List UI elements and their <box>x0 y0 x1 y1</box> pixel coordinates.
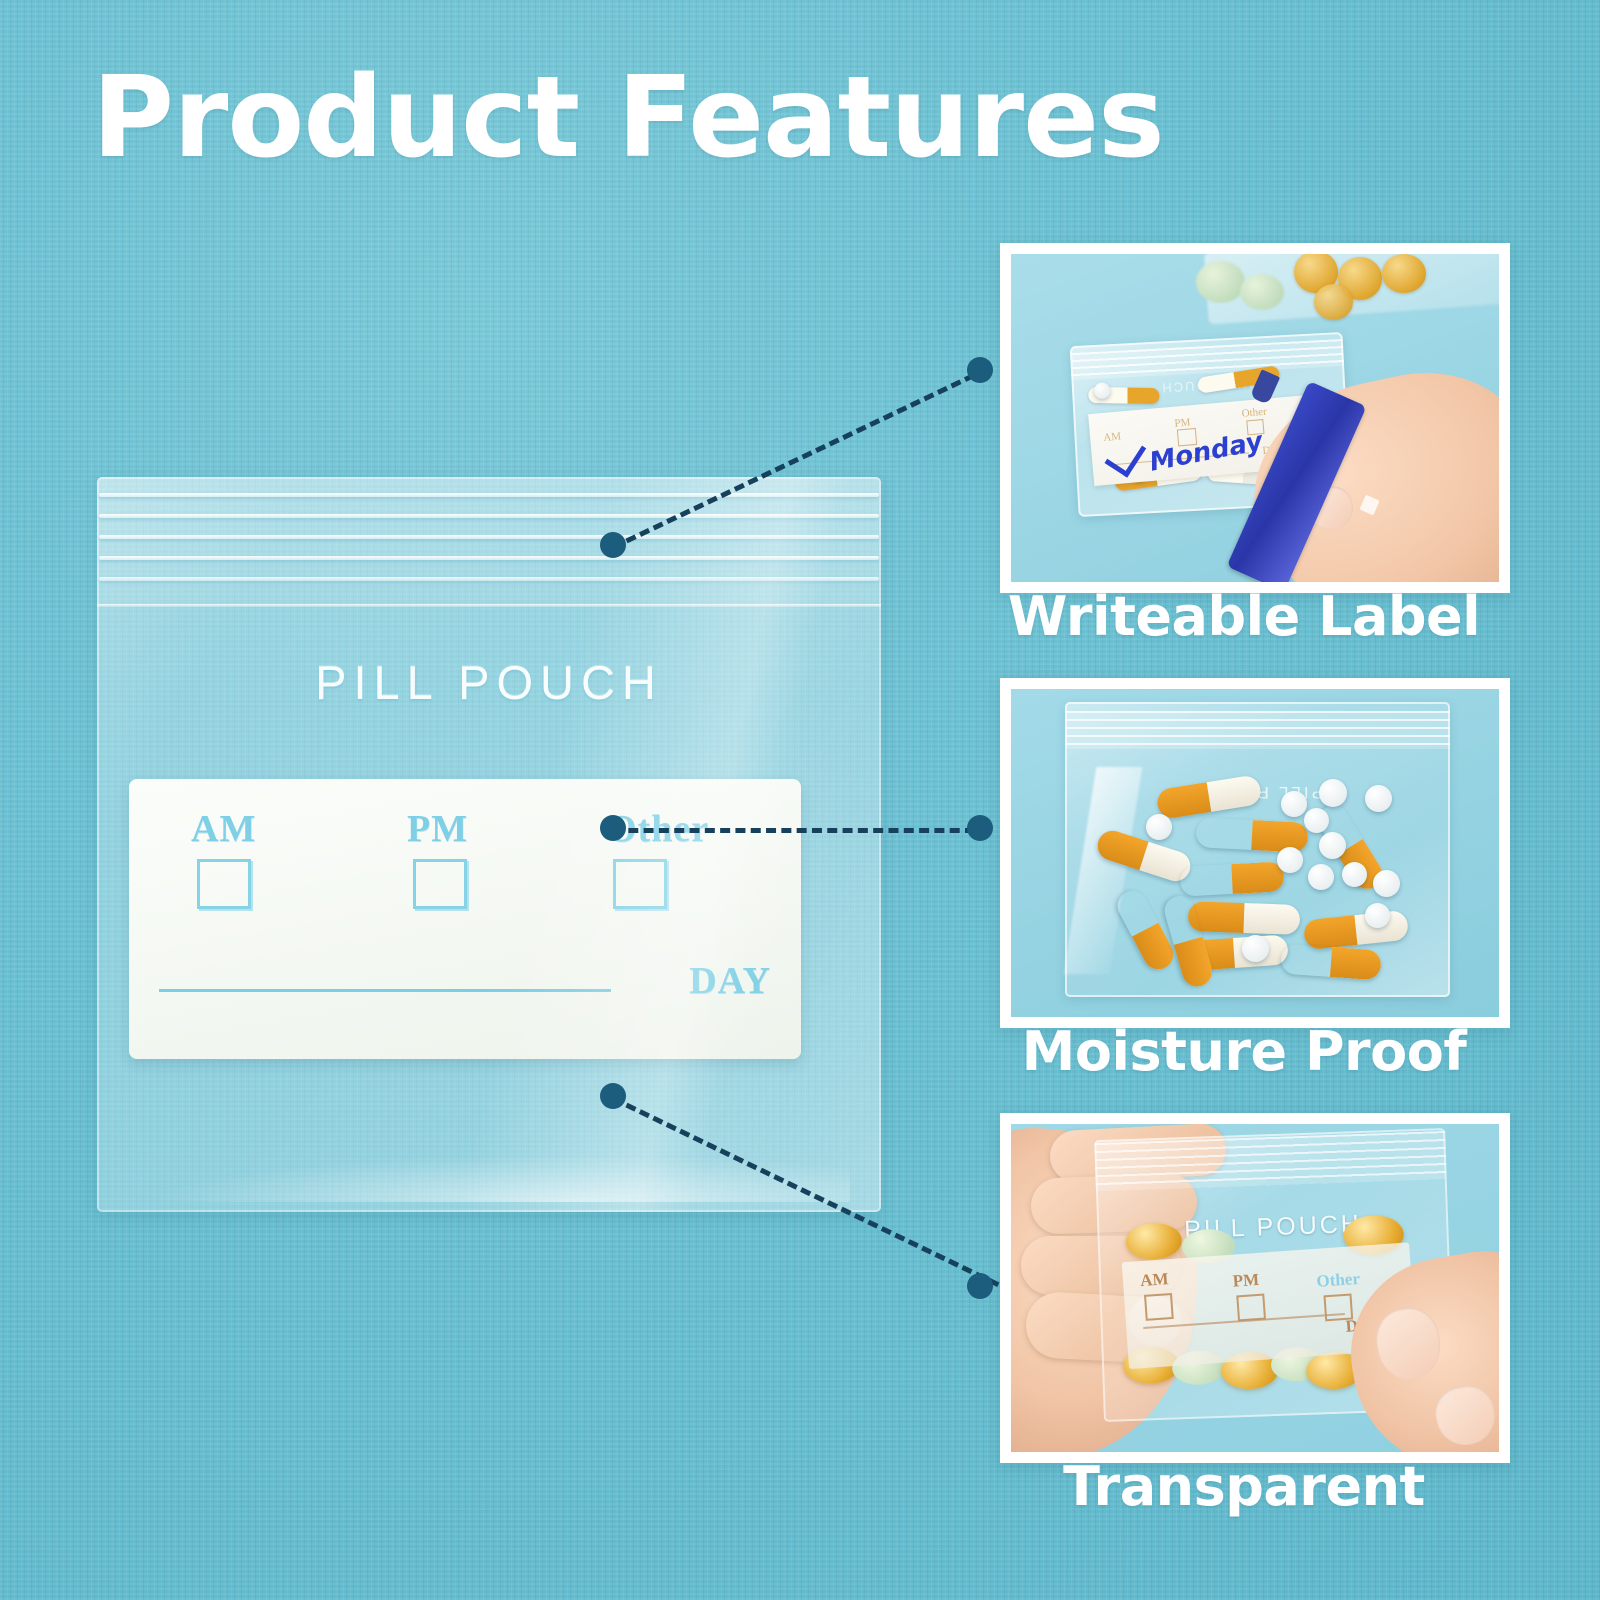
connector-dot-writeable-label-source <box>600 532 626 558</box>
feature-photo-moisture-proof: PILL POUCH <box>1011 689 1499 1017</box>
connector-dot-moisture-proof-target <box>967 815 993 841</box>
product-label: AM PM Other DAY <box>129 779 801 1059</box>
feature-caption-moisture-proof: Moisture Proof <box>1000 1020 1488 1083</box>
photo1-handwriting: Monday <box>1148 426 1266 477</box>
connector-dot-transparent-target <box>967 1273 993 1299</box>
label-day-text: DAY <box>689 959 771 1003</box>
connector-dot-transparent-source <box>600 1083 626 1109</box>
checkbox-am[interactable] <box>197 859 251 909</box>
feature-caption-transparent: Transparent <box>1000 1455 1488 1518</box>
connector-dot-writeable-label-target <box>967 357 993 383</box>
connector-dot-moisture-proof-source <box>600 815 626 841</box>
photo2-pouch: PILL POUCH <box>1065 702 1451 997</box>
product-bag-main: PILL POUCH AM PM Other DAY <box>97 477 881 1212</box>
feature-card-writeable-label[interactable]: PILL POUCH AM PM Other DAY Monday <box>1000 243 1510 593</box>
label-checkbox-row: AM PM Other <box>129 807 801 927</box>
connector-line-moisture-proof <box>613 828 975 833</box>
infographic-canvas: Product Features PILL POUCH AM PM <box>0 0 1600 1600</box>
feature-caption-writeable-label: Writeable Label <box>1000 585 1488 648</box>
checkbox-other[interactable] <box>613 859 667 909</box>
checkbox-pm[interactable] <box>413 859 467 909</box>
feature-card-moisture-proof[interactable]: PILL POUCH <box>1000 678 1510 1028</box>
feature-photo-transparent: PILL POUCH AM PM Other DAY <box>1011 1124 1499 1452</box>
page-title: Product Features <box>92 62 1164 174</box>
label-write-line <box>159 989 611 992</box>
feature-photo-writeable-label: PILL POUCH AM PM Other DAY Monday <box>1011 254 1499 582</box>
label-column-pm: PM <box>407 807 468 909</box>
label-column-am: AM <box>191 807 256 909</box>
feature-card-transparent[interactable]: PILL POUCH AM PM Other DAY <box>1000 1113 1510 1463</box>
bag-zipper-seal <box>97 477 881 607</box>
bag-brand-text: PILL POUCH <box>97 655 881 710</box>
